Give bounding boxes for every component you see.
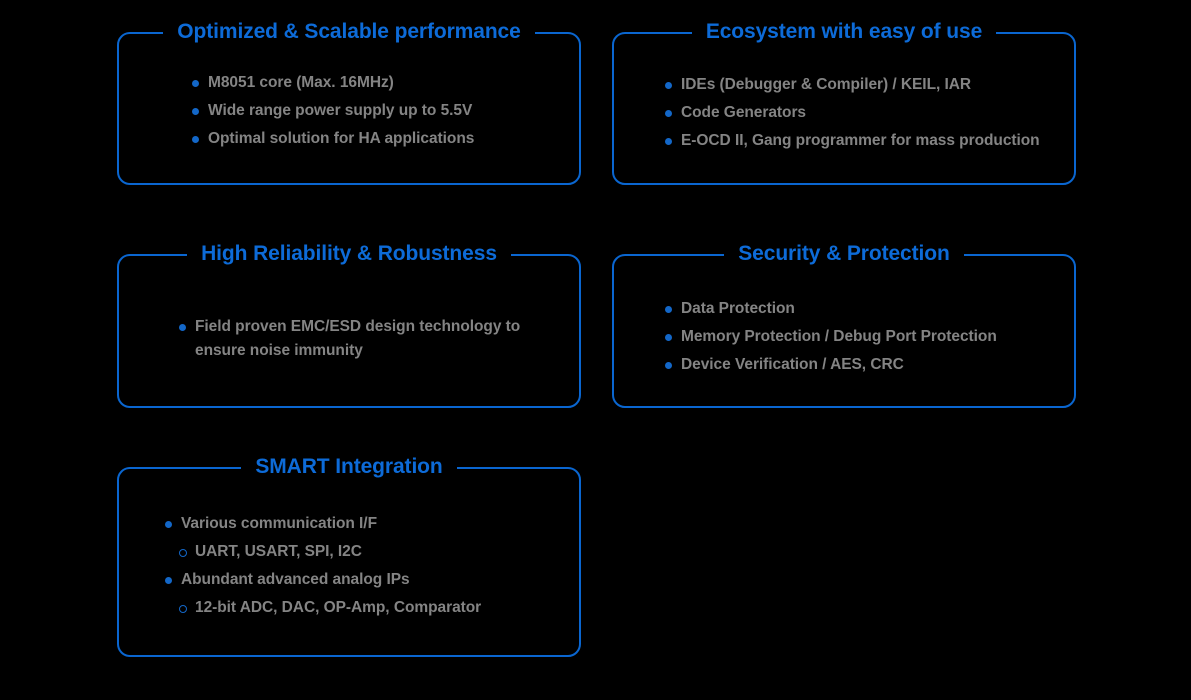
bullet-item: Code Generators <box>665 101 1052 125</box>
card-title: Security & Protection <box>724 237 963 271</box>
card-title: SMART Integration <box>241 450 456 484</box>
card-title-area: Optimized & Scalable performance <box>117 15 581 49</box>
bullet-item: Device Verification / AES, CRC <box>665 353 1052 377</box>
card-title: High Reliability & Robustness <box>187 237 511 271</box>
card-bullet-list: M8051 core (Max. 16MHz)Wide range power … <box>117 71 581 151</box>
bullet-item: Wide range power supply up to 5.5V <box>192 99 557 123</box>
card-title-area: Ecosystem with easy of use <box>612 15 1076 49</box>
bullet-item: IDEs (Debugger & Compiler) / KEIL, IAR <box>665 73 1052 97</box>
card-title-area: High Reliability & Robustness <box>117 237 581 271</box>
bullet-item-sub: 12-bit ADC, DAC, OP-Amp, Comparator <box>165 596 557 620</box>
card-bullet-list: Data ProtectionMemory Protection / Debug… <box>612 297 1076 377</box>
bullet-item-sub: UART, USART, SPI, I2C <box>165 540 557 564</box>
card-bullet-list: Field proven EMC/ESD design technology t… <box>117 315 581 363</box>
bullet-item: Optimal solution for HA applications <box>192 127 557 151</box>
card-title: Ecosystem with easy of use <box>692 15 996 49</box>
bullet-item: Various communication I/F <box>165 512 557 536</box>
bullet-item: Abundant advanced analog IPs <box>165 568 557 592</box>
card-title-area: Security & Protection <box>612 237 1076 271</box>
feature-card-optimized-scalable-performance: Optimized & Scalable performanceM8051 co… <box>117 15 581 185</box>
card-bullet-list: IDEs (Debugger & Compiler) / KEIL, IARCo… <box>612 73 1076 153</box>
bullet-item: Data Protection <box>665 297 1052 321</box>
bullet-item: M8051 core (Max. 16MHz) <box>192 71 557 95</box>
feature-card-security-protection: Security & ProtectionData ProtectionMemo… <box>612 237 1076 408</box>
card-title: Optimized & Scalable performance <box>163 15 534 49</box>
feature-card-board: Optimized & Scalable performanceM8051 co… <box>0 0 1191 700</box>
feature-card-ecosystem-with-easy-of-use: Ecosystem with easy of useIDEs (Debugger… <box>612 15 1076 185</box>
feature-card-high-reliability-robustness: High Reliability & RobustnessField prove… <box>117 237 581 408</box>
bullet-item: E-OCD II, Gang programmer for mass produ… <box>665 129 1052 153</box>
feature-card-smart-integration: SMART IntegrationVarious communication I… <box>117 450 581 657</box>
bullet-item: Memory Protection / Debug Port Protectio… <box>665 325 1052 349</box>
card-bullet-list: Various communication I/FUART, USART, SP… <box>117 512 581 620</box>
bullet-item: Field proven EMC/ESD design technology t… <box>179 315 557 363</box>
card-title-area: SMART Integration <box>117 450 581 484</box>
